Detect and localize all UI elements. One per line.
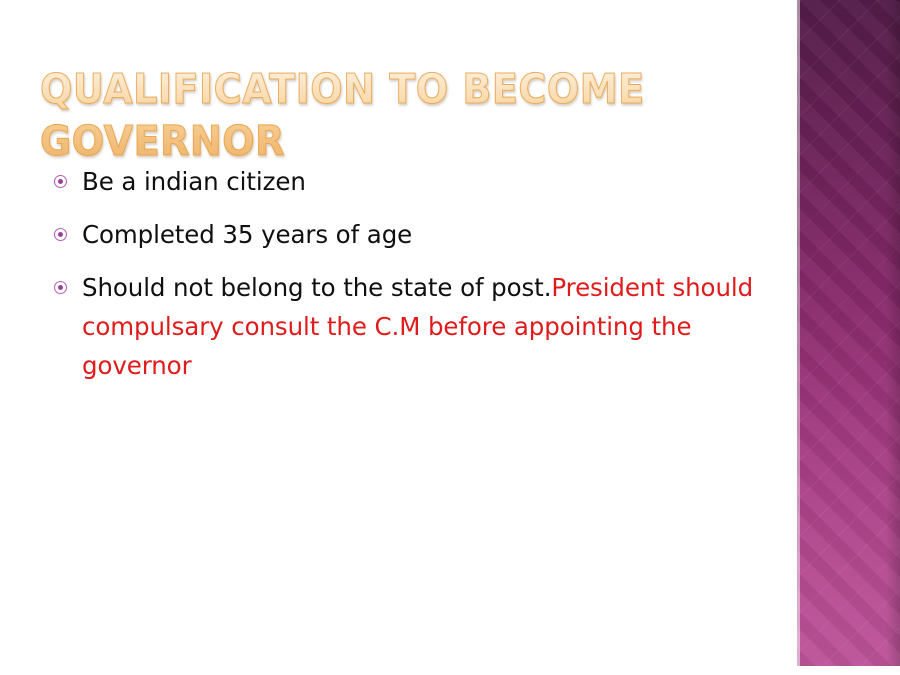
- ring-dot-bullet-icon: [54, 175, 67, 188]
- list-item: Be a indian citizen: [52, 162, 782, 201]
- side-band-gloss: [797, 0, 900, 306]
- bullet-list: Be a indian citizenCompleted 35 years of…: [52, 162, 782, 399]
- bullet-text: Be a indian citizen: [82, 167, 306, 196]
- decorative-side-band: [797, 0, 900, 666]
- ring-dot-bullet-icon: [54, 281, 67, 294]
- side-band-left-edge: [797, 0, 800, 666]
- bullet-text: Should not belong to the state of post.: [82, 273, 551, 302]
- ring-dot-bullet-icon: [54, 228, 67, 241]
- bullet-text: Completed 35 years of age: [82, 220, 412, 249]
- list-item: Should not belong to the state of post.P…: [52, 268, 782, 385]
- side-band-right-edge: [886, 0, 900, 666]
- list-item: Completed 35 years of age: [52, 215, 782, 254]
- slide-title: Qualification to become governor: [40, 63, 691, 167]
- slide-canvas: Qualification to become governor Be a in…: [0, 0, 900, 675]
